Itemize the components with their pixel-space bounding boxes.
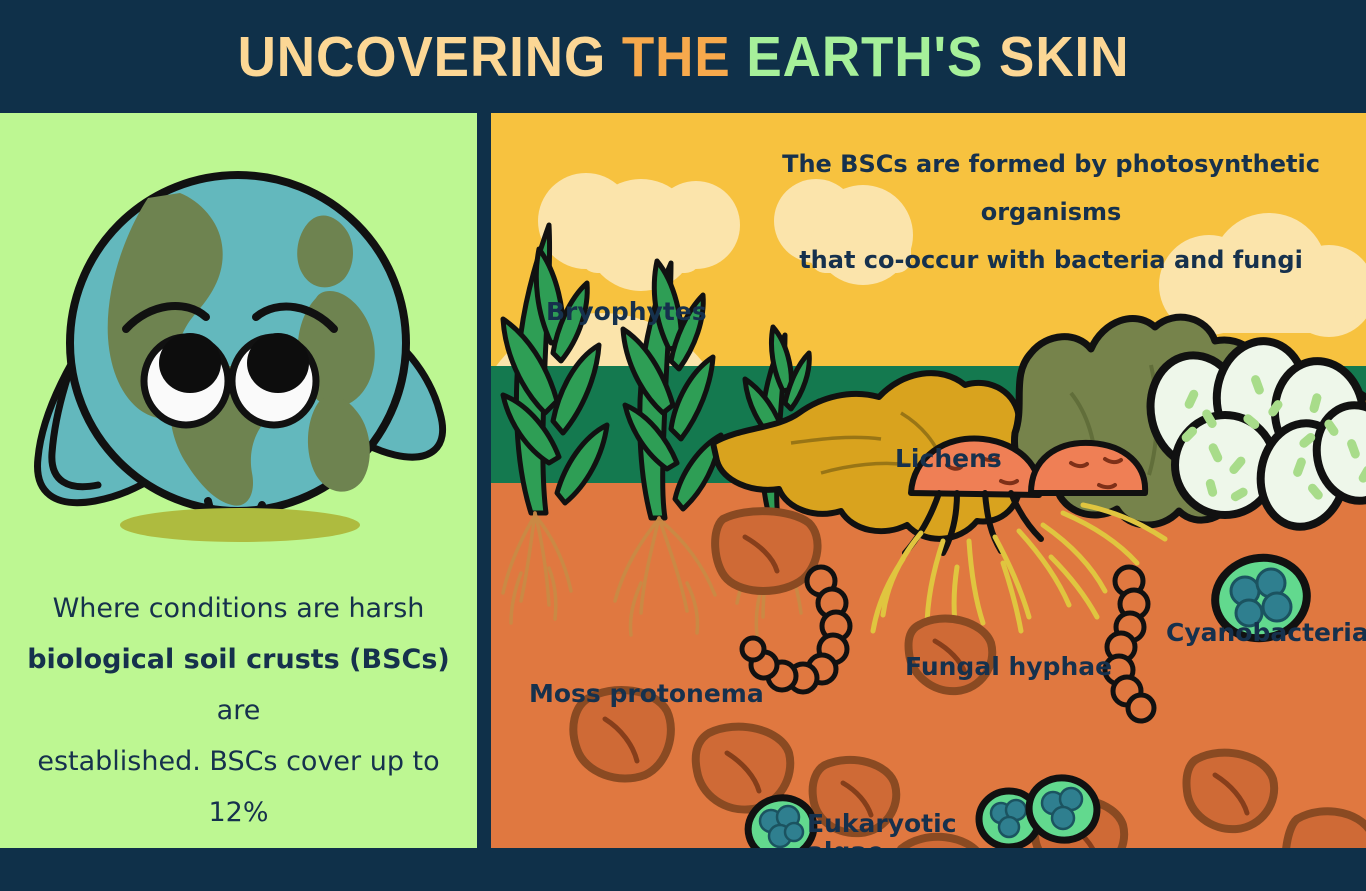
label-eukaryotic-algae: Eukaryotic algae [807, 810, 957, 848]
earth-character-illustration [0, 113, 477, 563]
title-word-earths: EARTH'S [746, 25, 999, 89]
title-word-uncovering: UNCOVERING [237, 25, 621, 89]
caption-bold-term: biological soil crusts (BSCs) [27, 644, 450, 675]
caption-line-2-tail: are [217, 695, 261, 726]
caption-line-4: of Earth's land surface [18, 838, 459, 848]
caption-line-2: biological soil crusts (BSCs) are [18, 634, 459, 736]
caption-line-1: Where conditions are harsh [18, 583, 459, 634]
title-word-the: THE [621, 25, 745, 89]
label-fungal-hyphae: Fungal hyphae [905, 652, 1112, 681]
left-panel: Where conditions are harsh biological so… [0, 113, 477, 848]
label-cyanobacteria: Cyanobacteria [1166, 618, 1366, 647]
label-lichens: Lichens [895, 444, 1002, 473]
title-word-skin: SKIN [999, 25, 1129, 89]
earth-shadow [120, 508, 360, 542]
infographic-page: UNCOVERING THE EARTH'S SKIN [0, 0, 1366, 891]
label-moss-protonema: Moss protonema [529, 679, 764, 708]
page-title: UNCOVERING THE EARTH'S SKIN [237, 24, 1129, 90]
left-caption: Where conditions are harsh biological so… [18, 583, 459, 848]
right-panel-scene: The BSCs are formed by photosynthetic or… [491, 113, 1366, 848]
label-bryophytes: Bryophytes [546, 297, 707, 326]
bsc-header-line-1: The BSCs are formed by photosynthetic or… [746, 140, 1356, 236]
bsc-header-line-2: that co-occur with bacteria and fungi [746, 236, 1356, 284]
earth-character [0, 113, 477, 563]
bsc-header-text: The BSCs are formed by photosynthetic or… [746, 140, 1356, 284]
title-bar: UNCOVERING THE EARTH'S SKIN [0, 0, 1366, 113]
caption-line-3: established. BSCs cover up to 12% [18, 736, 459, 838]
